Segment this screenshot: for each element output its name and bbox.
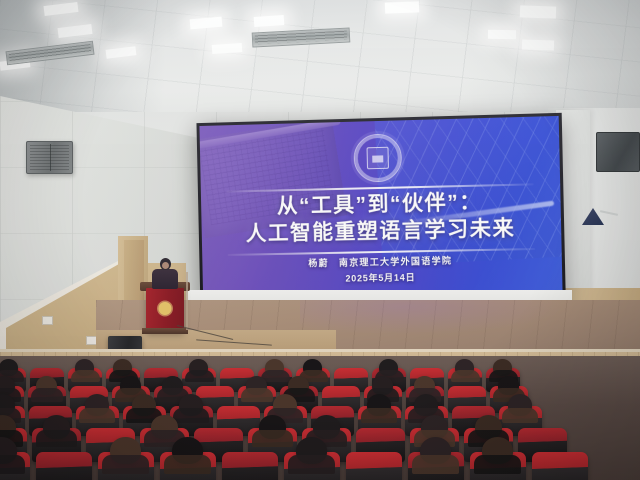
audience-member-shoulders — [102, 455, 149, 474]
audience-member-shoulders — [288, 455, 335, 474]
auditorium-seat — [222, 452, 278, 480]
audience-member-shoulders — [36, 430, 77, 447]
audience-member-shoulders — [361, 408, 397, 423]
presentation-screen: 从“工具”到“伙伴”： 人工智能重塑语言学习未来 杨蔚 南京理工大学外国语学院 … — [199, 116, 562, 314]
speaker-divider — [50, 144, 51, 171]
audience-member-shoulders — [185, 370, 214, 382]
audience-member-shoulders — [164, 455, 211, 474]
ceiling-light — [385, 1, 419, 13]
wall-outlet — [42, 316, 53, 325]
audience-member-shoulders — [71, 370, 100, 382]
ceiling-light — [254, 15, 285, 27]
auditorium-seat — [346, 452, 402, 480]
audience-member-shoulders — [451, 370, 480, 382]
ceiling-light — [520, 5, 556, 18]
audience-member-shoulders — [0, 455, 25, 474]
stage-screen-reflection — [300, 300, 560, 334]
audience-member-shoulders — [502, 408, 538, 423]
audience-member-shoulders — [79, 408, 115, 423]
lecture-hall-photo: 从“工具”到“伙伴”： 人工智能重塑语言学习未来 杨蔚 南京理工大学外国语学院 … — [0, 0, 640, 480]
microphone-stand — [186, 272, 188, 330]
audience-member-shoulders — [474, 455, 521, 474]
audience-member-shoulders — [173, 408, 209, 423]
slide-title: 从“工具”到“伙伴”： 人工智能重塑语言学习未来 — [201, 187, 562, 249]
podium-base — [142, 328, 188, 334]
wall-display-icon — [596, 132, 640, 172]
ceiling-light — [488, 30, 516, 39]
auditorium-seat — [532, 452, 588, 480]
ceiling-light — [522, 39, 554, 50]
auditorium-seat — [36, 452, 92, 480]
presenter-body — [152, 269, 178, 289]
presenter — [152, 258, 178, 288]
audience-member-shoulders — [31, 388, 63, 402]
audience-member-shoulders — [252, 430, 293, 447]
podium-emblem-icon — [159, 302, 172, 315]
led-screen-bezel: 从“工具”到“伙伴”： 人工智能重塑语言学习未来 杨蔚 南京理工大学外国语学院 … — [196, 113, 566, 317]
audience-member-shoulders — [412, 455, 459, 474]
audience-area — [0, 356, 640, 480]
audience-member-shoulders — [241, 388, 273, 402]
presenter-face — [162, 262, 169, 269]
wall-speaker-icon — [26, 141, 73, 174]
